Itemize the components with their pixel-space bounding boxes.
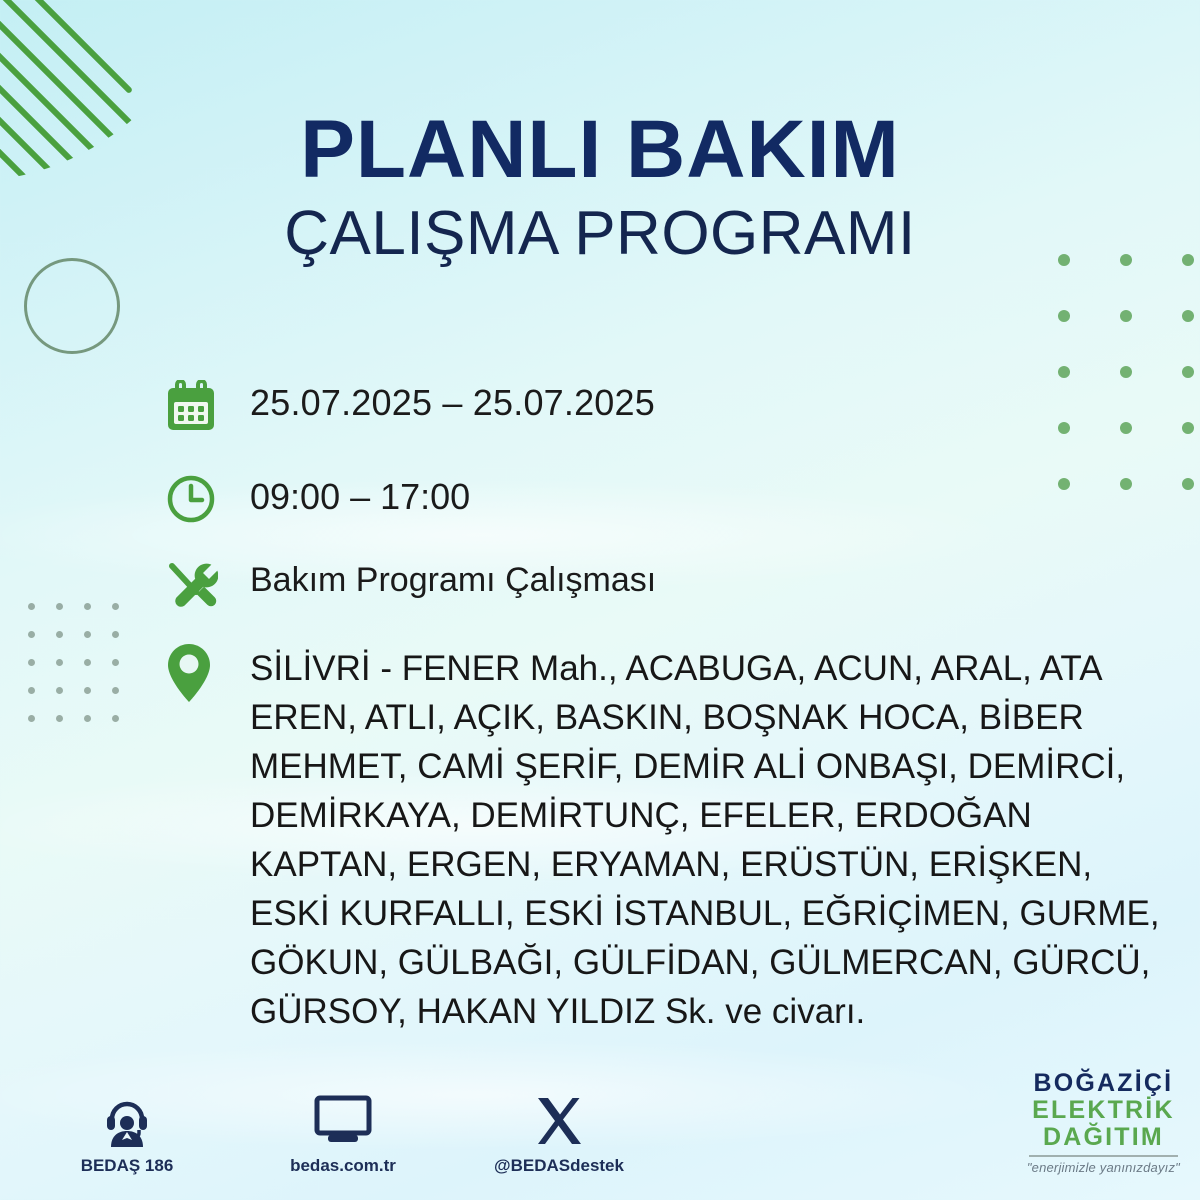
page-subtitle: ÇALIŞMA PROGRAMI: [0, 198, 1200, 269]
dot-grid-left-decoration: [17, 592, 129, 732]
work-type-value: Bakım Programı Çalışması: [250, 556, 656, 600]
contact-website-label: bedas.com.tr: [268, 1156, 418, 1176]
contact-phone[interactable]: BEDAŞ 186: [52, 1089, 202, 1176]
brand-line-bogazici: BOĞAZİÇİ: [1027, 1071, 1180, 1096]
poster-header: PLANLI BAKIM ÇALIŞMA PROGRAMI: [0, 108, 1200, 269]
contact-social[interactable]: @BEDASdestek: [484, 1089, 634, 1176]
brand-logo: BOĞAZİÇİ ELEKTRİK DAĞITIM "enerjimizle y…: [1027, 1071, 1180, 1174]
info-row-date: 25.07.2025 – 25.07.2025: [166, 378, 1176, 432]
tools-icon: [166, 556, 250, 610]
info-block: 25.07.2025 – 25.07.2025 09:00 – 17:00 Ba…: [166, 378, 1176, 1036]
monitor-website-icon: [268, 1089, 418, 1147]
contact-website[interactable]: bedas.com.tr: [268, 1089, 418, 1176]
calendar-icon: [166, 378, 250, 432]
location-value: SİLİVRİ - FENER Mah., ACABUGA, ACUN, ARA…: [250, 640, 1176, 1036]
page-title: PLANLI BAKIM: [0, 108, 1200, 192]
contact-social-label: @BEDASdestek: [484, 1156, 634, 1176]
info-row-work-type: Bakım Programı Çalışması: [166, 556, 1176, 610]
brand-line-elektrik: ELEKTRİK: [1027, 1098, 1180, 1123]
circle-outline-decoration: [24, 258, 120, 354]
clock-icon: [166, 472, 250, 524]
date-range-value: 25.07.2025 – 25.07.2025: [250, 378, 655, 424]
time-range-value: 09:00 – 17:00: [250, 472, 470, 518]
headset-support-icon: [52, 1089, 202, 1147]
x-social-icon: [484, 1089, 634, 1147]
location-pin-icon: [166, 640, 250, 704]
contact-phone-label: BEDAŞ 186: [52, 1156, 202, 1176]
brand-tagline: "enerjimizle yanınızdayız": [1027, 1161, 1180, 1174]
brand-divider: [1029, 1155, 1178, 1157]
info-row-location: SİLİVRİ - FENER Mah., ACABUGA, ACUN, ARA…: [166, 640, 1176, 1036]
footer-contacts: BEDAŞ 186 bedas.com.tr @BEDASdestek: [52, 1089, 634, 1176]
brand-line-dagitim: DAĞITIM: [1027, 1125, 1180, 1150]
info-row-time: 09:00 – 17:00: [166, 472, 1176, 524]
